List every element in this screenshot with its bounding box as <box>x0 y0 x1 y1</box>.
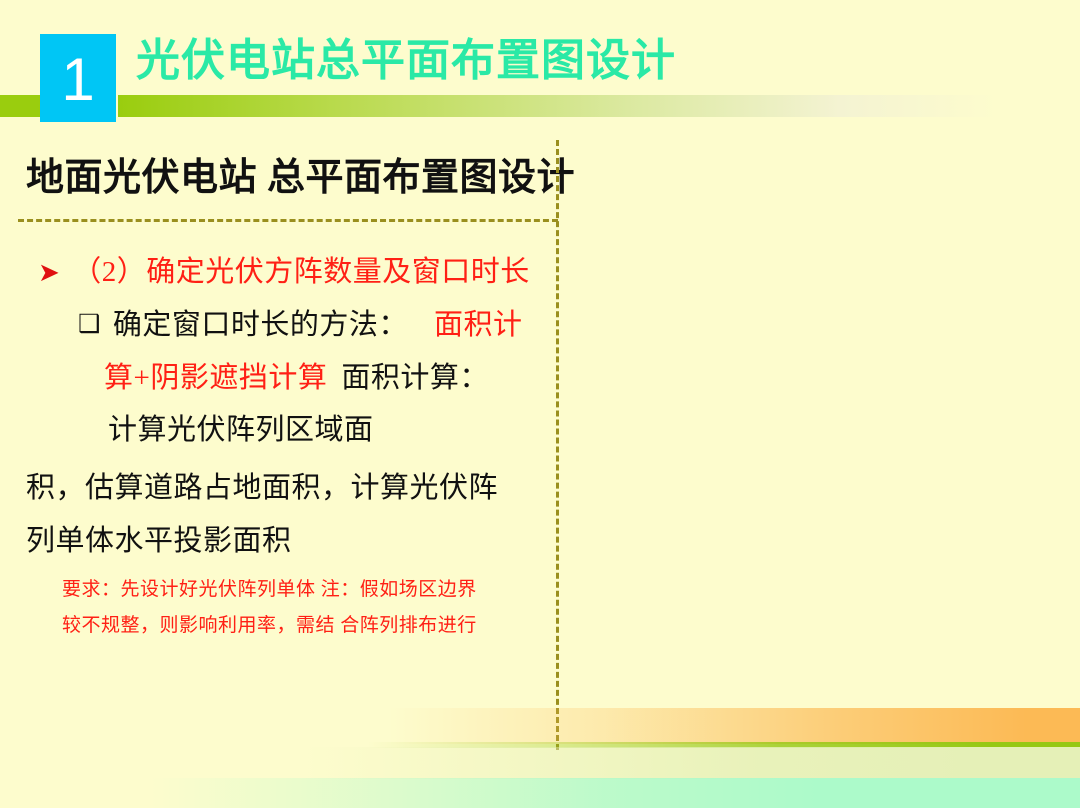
slide-title: 光伏电站总平面布置图设计 <box>136 32 676 90</box>
bullet-item-2-label-black: 确定窗口时长的方法： <box>113 309 408 341</box>
body-line-3-black: 面积计算： <box>341 362 489 394</box>
bullet-item-1: ➤（2）确定光伏方阵数量及窗口时长 <box>38 252 530 293</box>
presentation-slide: 1 光伏电站总平面布置图设计 地面光伏电站 总平面布置图设计 ➤（2）确定光伏方… <box>0 0 1080 808</box>
vertical-dashed-divider <box>556 140 559 750</box>
section-number-label: 1 <box>61 50 94 110</box>
decorative-band-orange <box>0 708 1080 744</box>
body-line-3: 算+阴影遮挡计算面积计算： <box>104 358 489 398</box>
arrow-bullet-icon: ➤ <box>38 258 60 287</box>
body-line-3-red: 算+阴影遮挡计算 <box>104 362 327 394</box>
bullet-item-2-label-red: 面积计 <box>434 309 523 341</box>
horizontal-dashed-divider <box>18 219 558 222</box>
bullet-item-1-label: （2）确定光伏方阵数量及窗口时长 <box>72 256 530 288</box>
content-heading: 地面光伏电站 总平面布置图设计 <box>26 152 575 204</box>
slide-header: 1 光伏电站总平面布置图设计 <box>0 0 1080 130</box>
header-rule-left-segment <box>0 95 45 117</box>
section-number-badge: 1 <box>40 34 116 122</box>
body-line-6: 列单体水平投影面积 <box>26 521 292 561</box>
square-bullet-icon: ❑ <box>78 311 101 338</box>
body-line-4: 计算光伏阵列区域面 <box>108 410 374 450</box>
decorative-band-mint <box>0 778 1080 808</box>
body-line-5: 积，估算道路占地面积，计算光伏阵 <box>26 468 498 508</box>
header-rule-right-segment <box>118 95 998 117</box>
bullet-item-2: ❑确定窗口时长的方法：面积计 <box>78 305 522 347</box>
decorative-band-light-green <box>0 747 1080 779</box>
note-line-2: 较不规整，则影响利用率，需结 合阵列排布进行 <box>62 612 477 640</box>
note-line-1: 要求：先设计好光伏阵列单体 注：假如场区边界 <box>62 576 477 604</box>
